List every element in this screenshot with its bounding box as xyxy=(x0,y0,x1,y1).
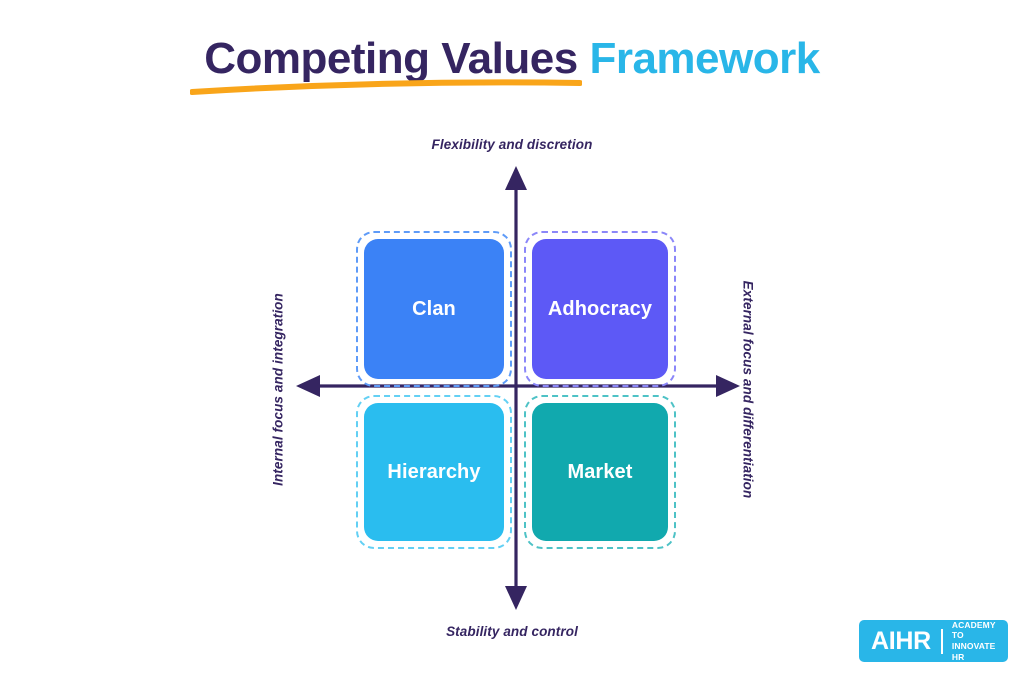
quadrant-clan-label: Clan xyxy=(412,298,456,321)
page-title: Competing Values Framework xyxy=(0,36,1024,82)
title-text: Competing Values Framework xyxy=(0,36,1024,82)
axis-arrow-down xyxy=(505,586,527,610)
quadrant-market[interactable]: Market xyxy=(524,395,676,549)
quadrant-adhocracy[interactable]: Adhocracy xyxy=(524,231,676,387)
axis-arrow-right xyxy=(716,375,740,397)
axis-arrow-up xyxy=(505,166,527,190)
quadrant-clan[interactable]: Clan xyxy=(356,231,512,387)
title-primary: Competing Values xyxy=(204,34,577,83)
quadrant-adhocracy-fill: Adhocracy xyxy=(532,239,668,379)
aihr-logo[interactable]: AIHR Academy to Innovate HR xyxy=(859,620,1008,662)
title-accent: Framework xyxy=(589,34,819,83)
aihr-logo-tagline-line1: Academy to xyxy=(952,620,996,641)
quadrant-market-label: Market xyxy=(567,461,632,484)
quadrant-clan-fill: Clan xyxy=(364,239,504,379)
aihr-logo-tagline: Academy to Innovate HR xyxy=(952,620,996,663)
axis-cross xyxy=(0,0,1024,680)
axis-label-internal-focus-and-integration: Internal focus and integration xyxy=(271,270,286,510)
aihr-logo-wordmark: AIHR xyxy=(871,629,931,654)
quadrant-adhocracy-label: Adhocracy xyxy=(548,298,652,321)
axis-label-external-focus-and-differentiation: External focus and differentiation xyxy=(741,270,756,510)
quadrant-hierarchy-label: Hierarchy xyxy=(387,461,480,484)
aihr-logo-tagline-line2: Innovate HR xyxy=(952,641,995,662)
quadrant-hierarchy-fill: Hierarchy xyxy=(364,403,504,541)
quadrant-hierarchy[interactable]: Hierarchy xyxy=(356,395,512,549)
logo-divider xyxy=(941,629,943,654)
axis-label-flexibility-and-discretion: Flexibility and discretion xyxy=(0,137,1024,152)
axis-arrow-left xyxy=(296,375,320,397)
quadrant-market-fill: Market xyxy=(532,403,668,541)
